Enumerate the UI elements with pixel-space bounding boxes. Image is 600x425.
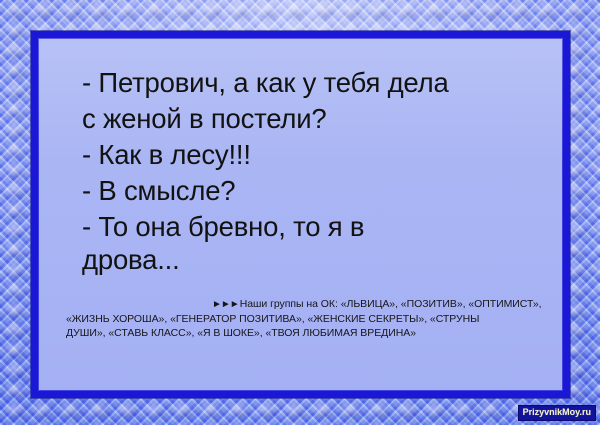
joke-text-block: - Петрович, а как у тебя дела с женой в … <box>82 65 549 275</box>
joke-line: - Петрович, а как у тебя дела <box>82 65 549 101</box>
joke-line: с женой в постели? <box>82 101 549 137</box>
joke-last-line-row: дрова... <box>82 245 549 275</box>
triangle-arrows-icon: ►►► <box>212 299 239 310</box>
promo-line-text: Наши группы на ОК: «ЛЬВИЦА», «ПОЗИТИВ», … <box>240 298 542 310</box>
joke-line: - Как в лесу!!! <box>82 137 549 173</box>
joke-image-card: - Петрович, а как у тебя дела с женой в … <box>0 0 600 425</box>
joke-line: - В смысле? <box>82 173 549 209</box>
joke-punchline: дрова... <box>82 244 180 275</box>
watermark: PrizyvnikMoy.ru <box>518 405 596 421</box>
promo-line: ДУШИ», «СТАВЬ КЛАСС», «Я В ШОКЕ», «ТВОЯ … <box>66 326 566 340</box>
joke-line: - То она бревно, то я в <box>82 209 549 245</box>
promo-block: ►►►Наши группы на ОК: «ЛЬВИЦА», «ПОЗИТИВ… <box>66 297 566 340</box>
promo-line: «ЖИЗНЬ ХОРОША», «ГЕНЕРАТОР ПОЗИТИВА», «Ж… <box>66 312 566 326</box>
promo-line: ►►►Наши группы на ОК: «ЛЬВИЦА», «ПОЗИТИВ… <box>66 297 566 312</box>
joke-panel: - Петрович, а как у тебя дела с женой в … <box>31 31 570 398</box>
